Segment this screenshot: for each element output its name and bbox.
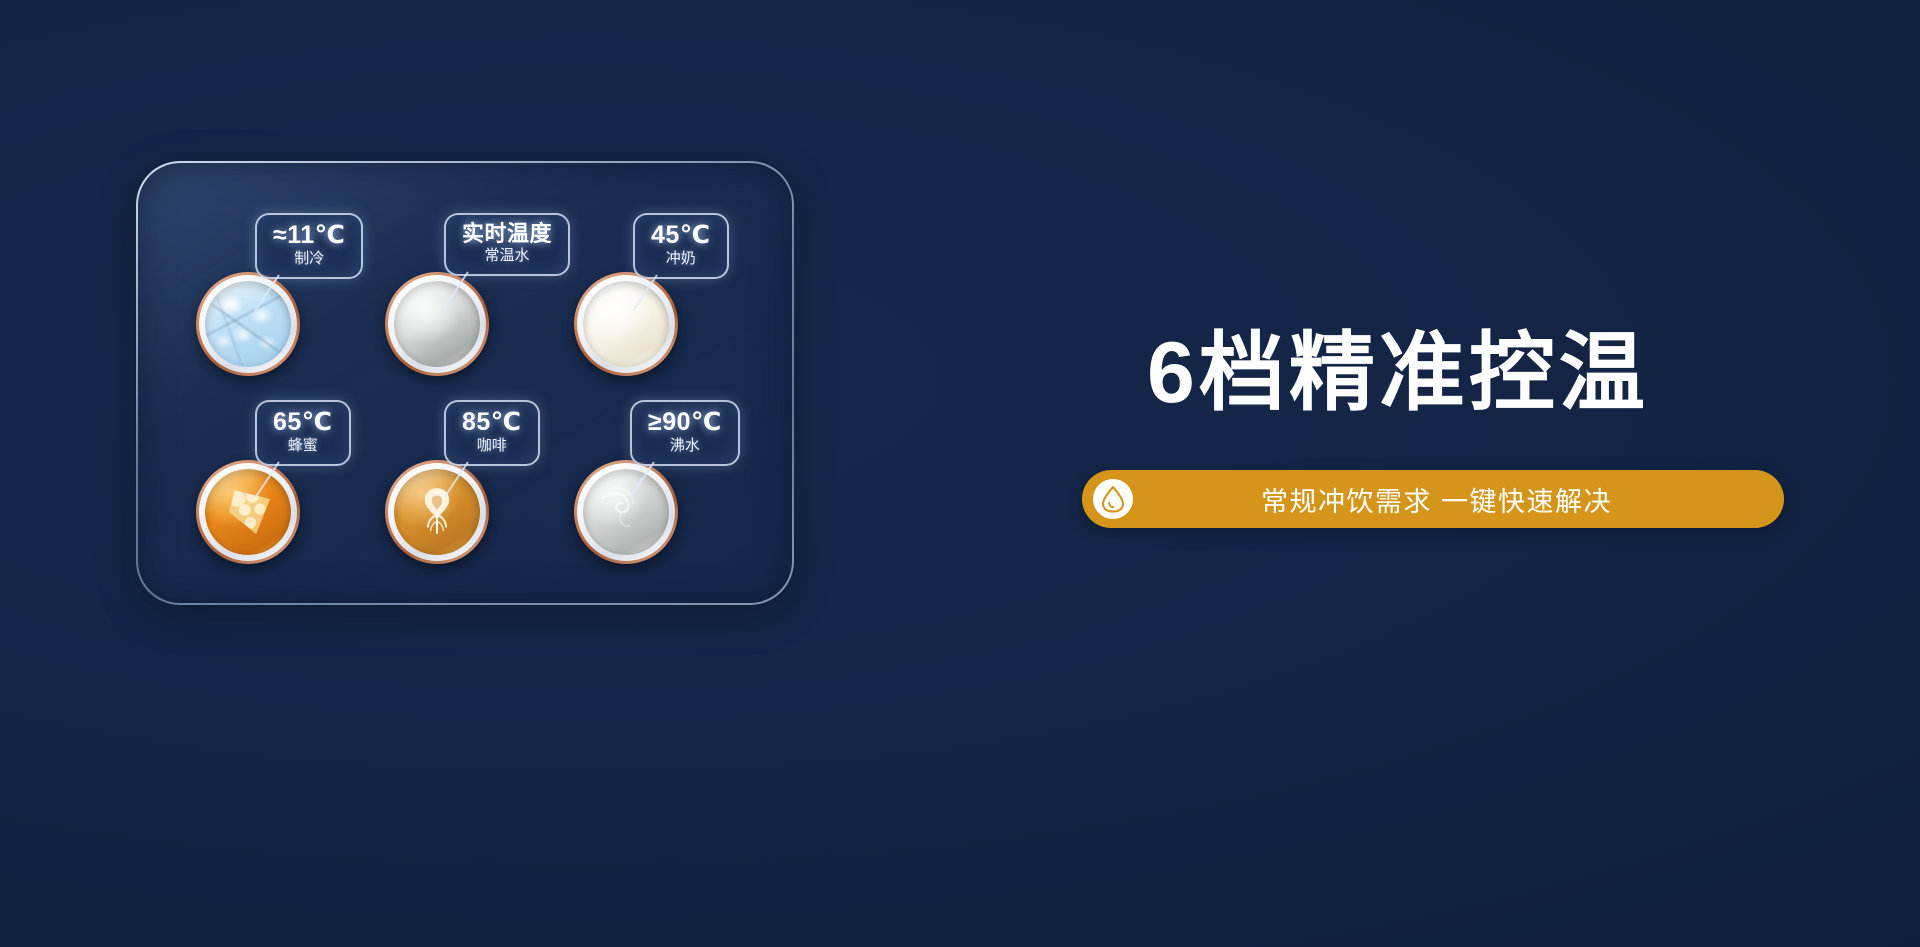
water-drop-badge [1093,479,1133,519]
callout-label: 沸水 [648,437,722,456]
water-drop-icon [1100,485,1126,513]
callout-tail-icon [438,270,484,310]
callout-label: 制冷 [273,250,345,269]
callout-label: 蜂蜜 [273,437,333,456]
callout-room-water[interactable]: 实时温度 常温水 [444,213,570,276]
callout-milk[interactable]: 45℃ 冲奶 [633,213,729,279]
callout-temp: ≥90℃ [648,409,722,436]
callout-label: 冲奶 [651,250,711,269]
callout-cooling[interactable]: ≈11℃ 制冷 [255,213,363,279]
callout-temp: 45℃ [651,222,711,249]
callout-label: 常温水 [462,247,552,266]
callout-coffee[interactable]: 85℃ 咖啡 [444,400,540,466]
callout-tail-icon [438,460,484,500]
callout-tail-icon [624,460,670,500]
callout-temp: 实时温度 [462,222,552,246]
callout-tail-icon [249,460,295,500]
feature-banner-text: 常规冲饮需求 一键快速解决 [1133,480,1784,519]
callout-label: 咖啡 [462,437,522,456]
callout-boiling-water[interactable]: ≥90℃ 沸水 [630,400,740,466]
callout-temp: 65℃ [273,409,333,436]
callout-tail-icon [249,273,295,313]
callout-temp: 85℃ [462,409,522,436]
callout-honey[interactable]: 65℃ 蜂蜜 [255,400,351,466]
page-title: 6档精准控温 [1147,330,1649,416]
callout-temp: ≈11℃ [273,222,345,249]
feature-banner: 常规冲饮需求 一键快速解决 [1082,470,1784,528]
poster-canvas: ≈11℃ 制冷 实时温度 常温水 45℃ 冲奶 [0,0,1920,947]
callout-tail-icon [627,273,673,313]
